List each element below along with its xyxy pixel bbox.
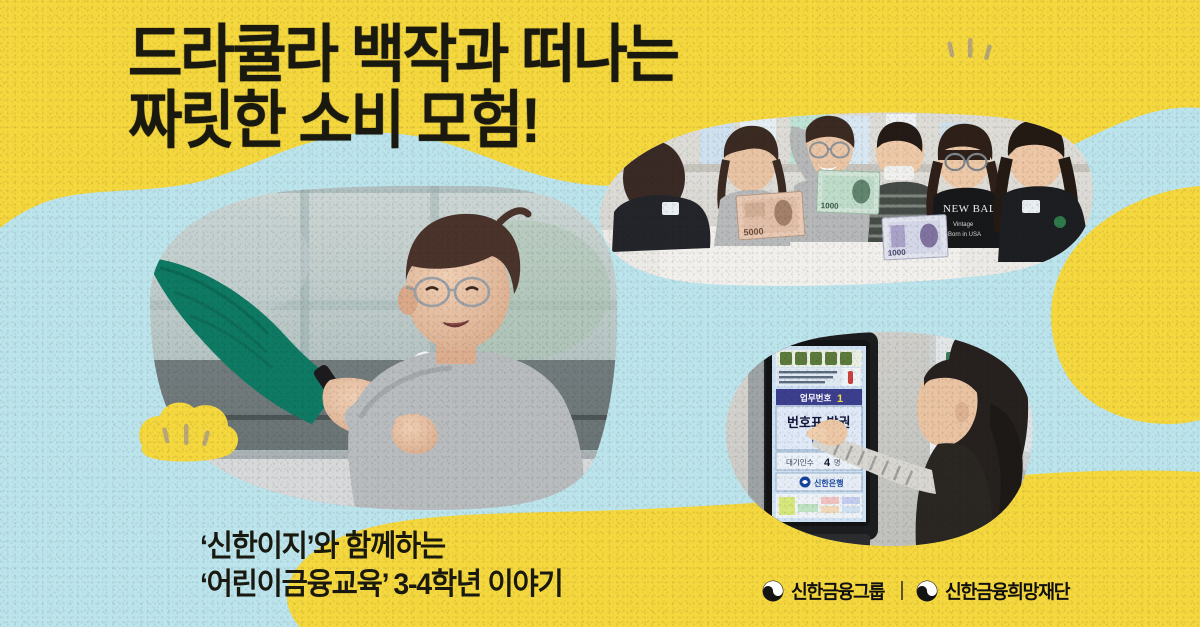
logo-shinhan-hope-foundation: 신한금융희망재단 (916, 577, 1074, 604)
logo-label: 신한금융그룹 (791, 577, 884, 604)
svg-text:신한은행: 신한은행 (814, 478, 843, 488)
shinhan-swirl-icon (916, 580, 938, 602)
logo-divider (901, 581, 903, 600)
svg-text:1000: 1000 (888, 248, 907, 258)
svg-text:명: 명 (834, 458, 840, 467)
logo-shinhan-financial-group: 신한금융그룹 (762, 577, 888, 604)
logo-row: 신한금융그룹 신한금융희망재단 (762, 577, 1074, 604)
subtitle: ‘신한이지’와 함께하는 ‘어린이금융교육’ 3-4학년 이야기 (200, 528, 732, 605)
page-title: 드라큘라 백작과 떠나는 짜릿한 소비 모험! (128, 22, 786, 154)
svg-text:1000: 1000 (821, 201, 840, 211)
shinhan-swirl-icon (762, 580, 784, 602)
logo-label: 신한금융희망재단 (945, 577, 1069, 604)
svg-text:Vintage: Vintage (953, 222, 974, 228)
svg-text:업무번호: 업무번호 (800, 393, 831, 403)
svg-text:Born in USA: Born in USA (948, 232, 981, 238)
svg-text:5000: 5000 (743, 226, 764, 237)
svg-text:대기인수: 대기인수 (786, 457, 814, 467)
svg-text:1: 1 (837, 393, 843, 405)
svg-text:4: 4 (824, 457, 831, 469)
promo-banner: NEW BALANC Vintage Born in USA 5000 (0, 0, 1200, 627)
